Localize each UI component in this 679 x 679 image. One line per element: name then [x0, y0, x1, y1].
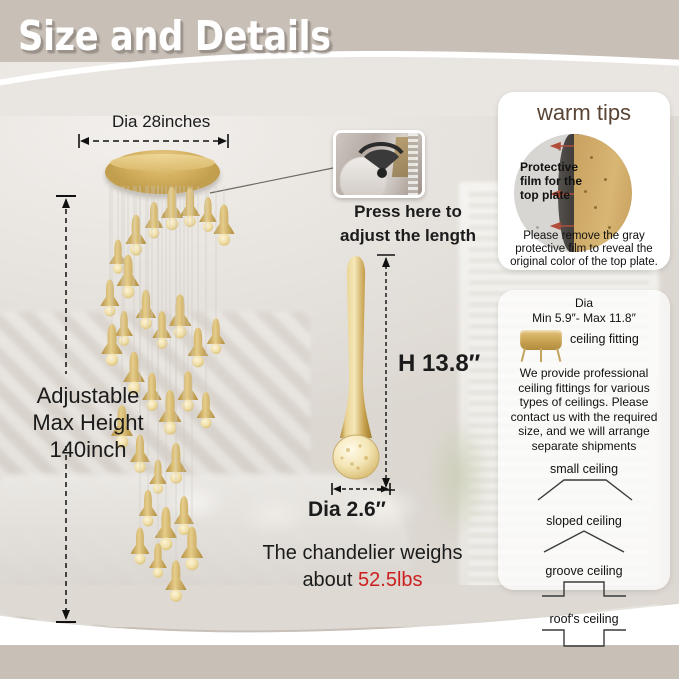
- droplet-diameter-label: Dia 2.6″: [308, 498, 386, 522]
- ceiling-type-groove-label: groove ceiling: [498, 564, 670, 578]
- warm-tips-card: warm tips Protective film fo: [498, 92, 670, 270]
- page-title: Size and Details: [18, 14, 331, 58]
- weight-note: The chandelier weighs about 52.5lbs: [240, 540, 485, 594]
- press-here-caption: Press here to adjust the length: [328, 200, 488, 248]
- film-label-line1: Protective: [520, 160, 602, 174]
- droplet-height-label: H 13.8″: [398, 350, 480, 378]
- film-label-line3: top plate: [520, 188, 602, 202]
- protective-film-label: Protective film for the top plate: [520, 160, 602, 202]
- max-height-line3: 140inch: [8, 436, 168, 463]
- ceiling-type-roof-label: roof's ceiling: [498, 612, 670, 626]
- ceiling-fitting-card: Dia Min 5.9″- Max 11.8″ ceiling fitting …: [498, 290, 670, 590]
- top-plate-dimension-arrow: [75, 132, 235, 150]
- fitting-dia-label: Dia Min 5.9″- Max 11.8″: [498, 296, 670, 326]
- film-label-line2: film for the: [520, 174, 602, 188]
- sloped-ceiling-shape-icon: [498, 528, 670, 554]
- warm-tips-title: warm tips: [498, 100, 670, 126]
- ceiling-type-roof: roof's ceiling: [498, 612, 670, 652]
- infographic-stage: Size and Details Dia 28inches: [0, 0, 679, 679]
- max-height-label: Adjustable Max Height 140inch: [8, 382, 168, 463]
- groove-ceiling-shape-icon: [498, 578, 670, 602]
- small-ceiling-shape-icon: [498, 476, 670, 502]
- ceiling-type-small: small ceiling: [498, 462, 670, 502]
- top-plate-dimension-label: Dia 28inches: [112, 112, 210, 132]
- ceiling-type-sloped: sloped ceiling: [498, 514, 670, 554]
- ceiling-fitting-icon: [520, 330, 562, 350]
- press-here-photo: [333, 130, 425, 198]
- warm-tips-note: Please remove the gray protective film t…: [504, 230, 664, 269]
- press-caption-line1: Press here to: [328, 200, 488, 224]
- fitting-dia-line1: Dia: [498, 296, 670, 311]
- weight-value: 52.5lbs: [358, 569, 423, 591]
- ceiling-fitting-paragraph: We provide professional ceiling fittings…: [506, 366, 662, 453]
- fitting-dia-line2: Min 5.9″- Max 11.8″: [498, 311, 670, 326]
- weight-prefix: about: [302, 569, 358, 591]
- ceiling-type-groove: groove ceiling: [498, 564, 670, 602]
- weight-line1: The chandelier weighs: [240, 540, 485, 567]
- droplet-height-dimension: [376, 252, 396, 494]
- ceiling-type-sloped-label: sloped ceiling: [498, 514, 670, 528]
- max-height-line1: Adjustable: [8, 382, 168, 409]
- max-height-line2: Max Height: [8, 409, 168, 436]
- weight-line2: about 52.5lbs: [240, 567, 485, 594]
- photo-clip-icon: [350, 137, 410, 183]
- press-caption-line2: adjust the length: [328, 224, 488, 248]
- droplet-diameter-dimension: [330, 482, 392, 496]
- roofs-ceiling-shape-icon: [498, 626, 670, 652]
- ceiling-fitting-icon-label: ceiling fitting: [570, 332, 639, 346]
- ceiling-type-small-label: small ceiling: [498, 462, 670, 476]
